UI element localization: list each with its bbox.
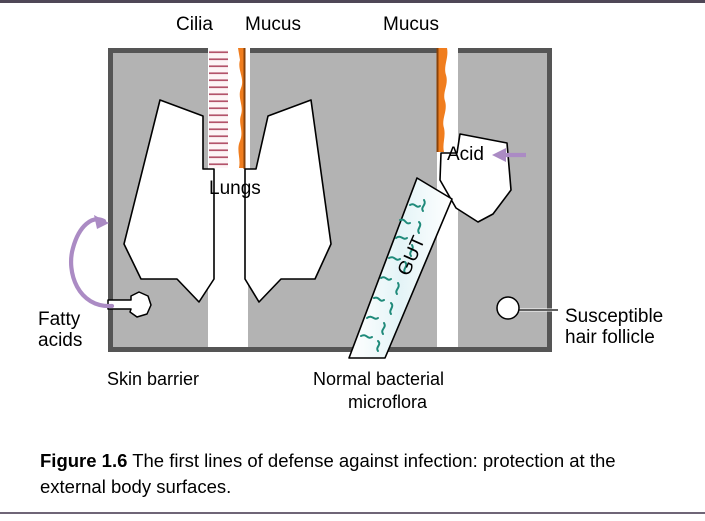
esophagus-opening	[437, 48, 459, 153]
caption-body: The first lines of defense against infec…	[40, 450, 616, 497]
body-top-edge-middle	[248, 48, 437, 53]
label-hair-follicle-line1: Susceptible	[565, 306, 663, 328]
airway-shaft	[208, 48, 250, 169]
figure-caption: Figure 1.6 The first lines of defense ag…	[40, 448, 685, 501]
label-hair-follicle-line2: hair follicle	[565, 327, 655, 349]
curved-arrow-up-icon	[71, 215, 112, 306]
label-microflora-line1: Normal bacterial	[313, 369, 444, 390]
label-cilia: Cilia	[176, 14, 213, 36]
label-fatty-acids-line2: acids	[38, 330, 82, 352]
label-fatty-acids-line1: Fatty	[38, 309, 80, 331]
caption-figure-number: Figure 1.6	[40, 450, 127, 471]
label-mucus-left: Mucus	[245, 14, 301, 36]
label-lungs: Lungs	[209, 178, 261, 200]
mucus-inner-edge-right	[437, 48, 439, 152]
mucus-inner-edge-left	[244, 48, 246, 169]
body-top-edge-left	[108, 48, 208, 53]
figure-page: GUT Cilia Mucus Mucus Lungs Acid Fatty a…	[0, 0, 705, 521]
body-right-edge	[547, 48, 552, 352]
body-bottom-edge	[108, 347, 552, 352]
label-acid: Acid	[447, 144, 484, 166]
label-mucus-right: Mucus	[383, 14, 439, 36]
label-microflora-line2: microflora	[348, 392, 427, 413]
body-top-edge-right	[458, 48, 552, 53]
cilia-hatch-icon	[209, 50, 228, 168]
body-surfaces-diagram: GUT	[0, 0, 705, 521]
label-skin-barrier: Skin barrier	[107, 369, 199, 390]
